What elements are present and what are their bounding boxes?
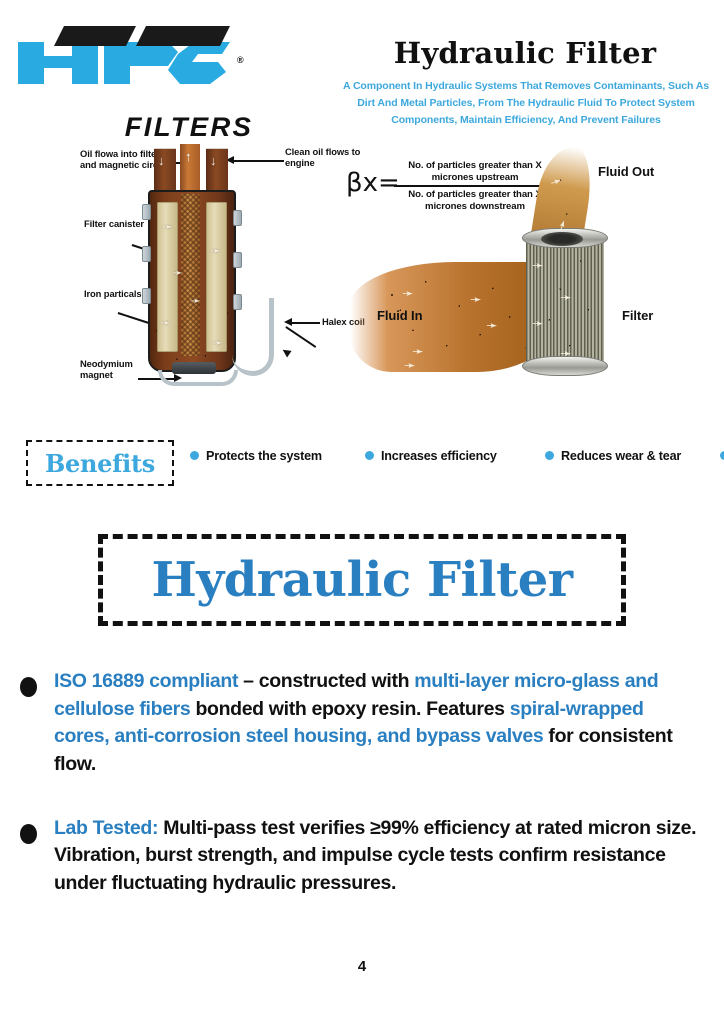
through-arrow-2: ➛	[560, 290, 572, 304]
plain-text: bonded with epoxy resin. Features	[190, 698, 509, 720]
coil-clip-4	[233, 210, 242, 226]
neodymium-magnet	[172, 362, 216, 374]
coil-clip-2	[142, 246, 151, 262]
arrowhead-coil-b	[280, 346, 291, 357]
benefit-text: Increases efficiency	[381, 449, 497, 463]
plain-text: – constructed with	[238, 670, 414, 692]
bullet-dot-icon	[720, 451, 724, 460]
bullet-dot-icon	[365, 451, 374, 460]
center-core	[181, 194, 200, 356]
benefit-item: Extends component life	[720, 449, 724, 463]
flow-arrow-3: ➛	[172, 266, 183, 279]
flow-arrow-4: ➛	[190, 294, 201, 307]
benefit-item: Protects the system	[190, 449, 365, 463]
flow-arrow-down-left: ↓	[158, 154, 165, 167]
flow-arrow-2: ➛	[210, 244, 221, 257]
magnetic-filter-canister-illustration: ↓ ↓ ↑ ➛ ➛ ➛ ➛ ➛ ➛	[148, 148, 278, 398]
section-title-box: Hydraulic Filter	[98, 534, 626, 626]
arrowhead-coil-a	[284, 318, 292, 326]
cartridge-outlet-hole	[541, 232, 583, 246]
formula-numerator: No. of particles greater than X micrones…	[394, 160, 556, 183]
page-number: 4	[0, 958, 724, 975]
benefits-label: Benefits	[45, 449, 155, 478]
bullet-dot-icon	[545, 451, 554, 460]
formula-fraction: No. of particles greater than X micrones…	[394, 160, 556, 213]
body-content: ISO 16889 compliant – constructed with m…	[0, 668, 724, 934]
paragraph-text: ISO 16889 compliant – constructed with m…	[54, 668, 698, 779]
beta-ratio-illustration: βx= No. of particles greater than X micr…	[360, 140, 724, 415]
body-paragraph: ISO 16889 compliant – constructed with m…	[0, 668, 724, 779]
page-header: ® FILTERS Hydraulic Filter A Component I…	[0, 0, 724, 140]
flow-arrow-1: ➛	[162, 220, 173, 233]
inflow-arrow-1: ➛	[402, 286, 414, 300]
bullet-dot-icon	[190, 451, 199, 460]
beta-symbol: βx=	[346, 168, 400, 198]
label-clean-oil: Clean oil flows to engine	[285, 146, 370, 168]
label-fluid-in: Fluid In	[377, 308, 422, 323]
benefits-list: Protects the system Increases efficiency…	[190, 440, 720, 471]
inflow-arrow-4: ➛	[486, 318, 498, 332]
highlighted-text: Lab Tested:	[54, 817, 158, 839]
label-neodymium-magnet: Neodymium magnet	[80, 358, 150, 380]
label-filter: Filter	[622, 308, 653, 323]
coil-clip-5	[233, 252, 242, 268]
through-arrow-4: ➛	[560, 346, 572, 360]
filter-element-right	[206, 202, 227, 352]
through-arrow-3: ➛	[532, 316, 544, 330]
inflow-arrow-2: ➛	[470, 292, 482, 306]
coil-clip-3	[142, 288, 151, 304]
page-subtitle: A Component In Hydraulic Systems That Re…	[338, 78, 714, 129]
highlighted-text: ISO 16889 compliant	[54, 670, 238, 692]
through-arrow-1: ➛	[532, 258, 544, 272]
benefits-section: Benefits Protects the system Increases e…	[0, 435, 724, 505]
benefits-badge: Benefits	[26, 440, 174, 486]
brand-logo: ® FILTERS	[18, 26, 248, 126]
leader-line-coil-a	[290, 322, 320, 324]
halex-coil-tube	[232, 298, 274, 376]
label-fluid-out: Fluid Out	[598, 164, 654, 179]
benefit-item: Increases efficiency	[365, 449, 545, 463]
section-title: Hydraulic Filter	[151, 552, 572, 608]
benefit-item: Reduces wear & tear	[545, 449, 720, 463]
paragraph-bullet-icon	[20, 824, 37, 844]
benefit-text: Protects the system	[206, 449, 322, 463]
leader-line-coil-b	[286, 326, 317, 347]
benefit-text: Reduces wear & tear	[561, 449, 681, 463]
inflow-arrow-3: ➛	[412, 344, 424, 358]
body-paragraph: Lab Tested: Multi-pass test verifies ≥99…	[0, 815, 724, 898]
flow-arrow-down-right: ↓	[210, 154, 217, 167]
flow-arrow-6: ➛	[212, 336, 223, 349]
diagram-section: Oil flowa into filter and magnetic circu…	[0, 140, 724, 415]
paragraph-text: Lab Tested: Multi-pass test verifies ≥99…	[54, 815, 698, 898]
registered-trademark-icon: ®	[237, 56, 244, 65]
flow-arrow-up-center: ↑	[185, 150, 192, 163]
coil-clip-1	[142, 204, 151, 220]
inflow-arrow-5: ➛	[404, 358, 416, 372]
label-iron-particles: Iron particals	[84, 288, 144, 299]
page-title: Hydraulic Filter	[340, 36, 710, 70]
flow-arrow-5: ➛	[160, 316, 171, 329]
formula-denominator: No. of particles greater than X micrones…	[394, 189, 556, 212]
logo-subtext: FILTERS	[125, 112, 253, 143]
formula-bar	[394, 185, 556, 187]
paragraph-bullet-icon	[20, 677, 37, 697]
hpc-logo-icon	[18, 26, 230, 84]
